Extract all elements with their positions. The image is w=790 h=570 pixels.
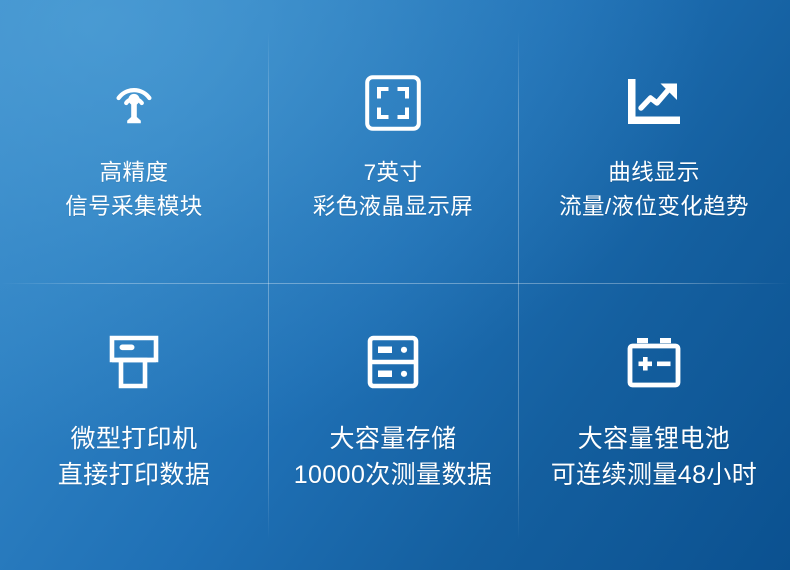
feature-caption: 7英寸 彩色液晶显示屏 bbox=[313, 156, 473, 224]
printer-icon bbox=[96, 331, 172, 393]
feature-cell-signal-acquisition[interactable]: 高精度 信号采集模块 bbox=[0, 0, 268, 283]
feature-caption: 高精度 信号采集模块 bbox=[65, 156, 202, 224]
battery-icon bbox=[616, 331, 692, 393]
feature-caption-line1: 7英寸 bbox=[313, 156, 473, 190]
feature-caption-line1: 大容量存储 bbox=[294, 421, 493, 457]
feature-cell-battery[interactable]: 大容量锂电池 可连续测量48小时 bbox=[518, 283, 790, 570]
feature-caption: 微型打印机 直接打印数据 bbox=[58, 421, 210, 493]
storage-server-icon bbox=[355, 331, 431, 393]
feature-caption-line1: 大容量锂电池 bbox=[551, 421, 757, 457]
feature-caption-line2: 10000次测量数据 bbox=[294, 457, 493, 493]
feature-caption-line1: 曲线显示 bbox=[559, 156, 749, 190]
feature-cell-curve-display[interactable]: 曲线显示 流量/液位变化趋势 bbox=[518, 0, 790, 283]
feature-caption-line2: 可连续测量48小时 bbox=[551, 457, 757, 493]
feature-caption-line1: 高精度 bbox=[65, 156, 202, 190]
feature-cell-storage[interactable]: 大容量存储 10000次测量数据 bbox=[268, 283, 518, 570]
feature-caption: 大容量锂电池 可连续测量48小时 bbox=[551, 421, 757, 493]
feature-grid: 高精度 信号采集模块 7英寸 彩色液晶显示屏 bbox=[0, 0, 790, 570]
feature-caption: 曲线显示 流量/液位变化趋势 bbox=[559, 156, 749, 224]
trend-chart-icon bbox=[616, 72, 692, 134]
feature-cell-printer[interactable]: 微型打印机 直接打印数据 bbox=[0, 283, 268, 570]
feature-caption: 大容量存储 10000次测量数据 bbox=[294, 421, 493, 493]
feature-panel: 高精度 信号采集模块 7英寸 彩色液晶显示屏 bbox=[0, 0, 790, 570]
feature-cell-display[interactable]: 7英寸 彩色液晶显示屏 bbox=[268, 0, 518, 283]
feature-caption-line1: 微型打印机 bbox=[58, 421, 210, 457]
feature-caption-line2: 流量/液位变化趋势 bbox=[559, 190, 749, 224]
screen-frame-icon bbox=[355, 72, 431, 134]
signal-antenna-icon bbox=[96, 72, 172, 134]
feature-caption-line2: 彩色液晶显示屏 bbox=[313, 190, 473, 224]
feature-caption-line2: 直接打印数据 bbox=[58, 457, 210, 493]
feature-caption-line2: 信号采集模块 bbox=[65, 190, 202, 224]
